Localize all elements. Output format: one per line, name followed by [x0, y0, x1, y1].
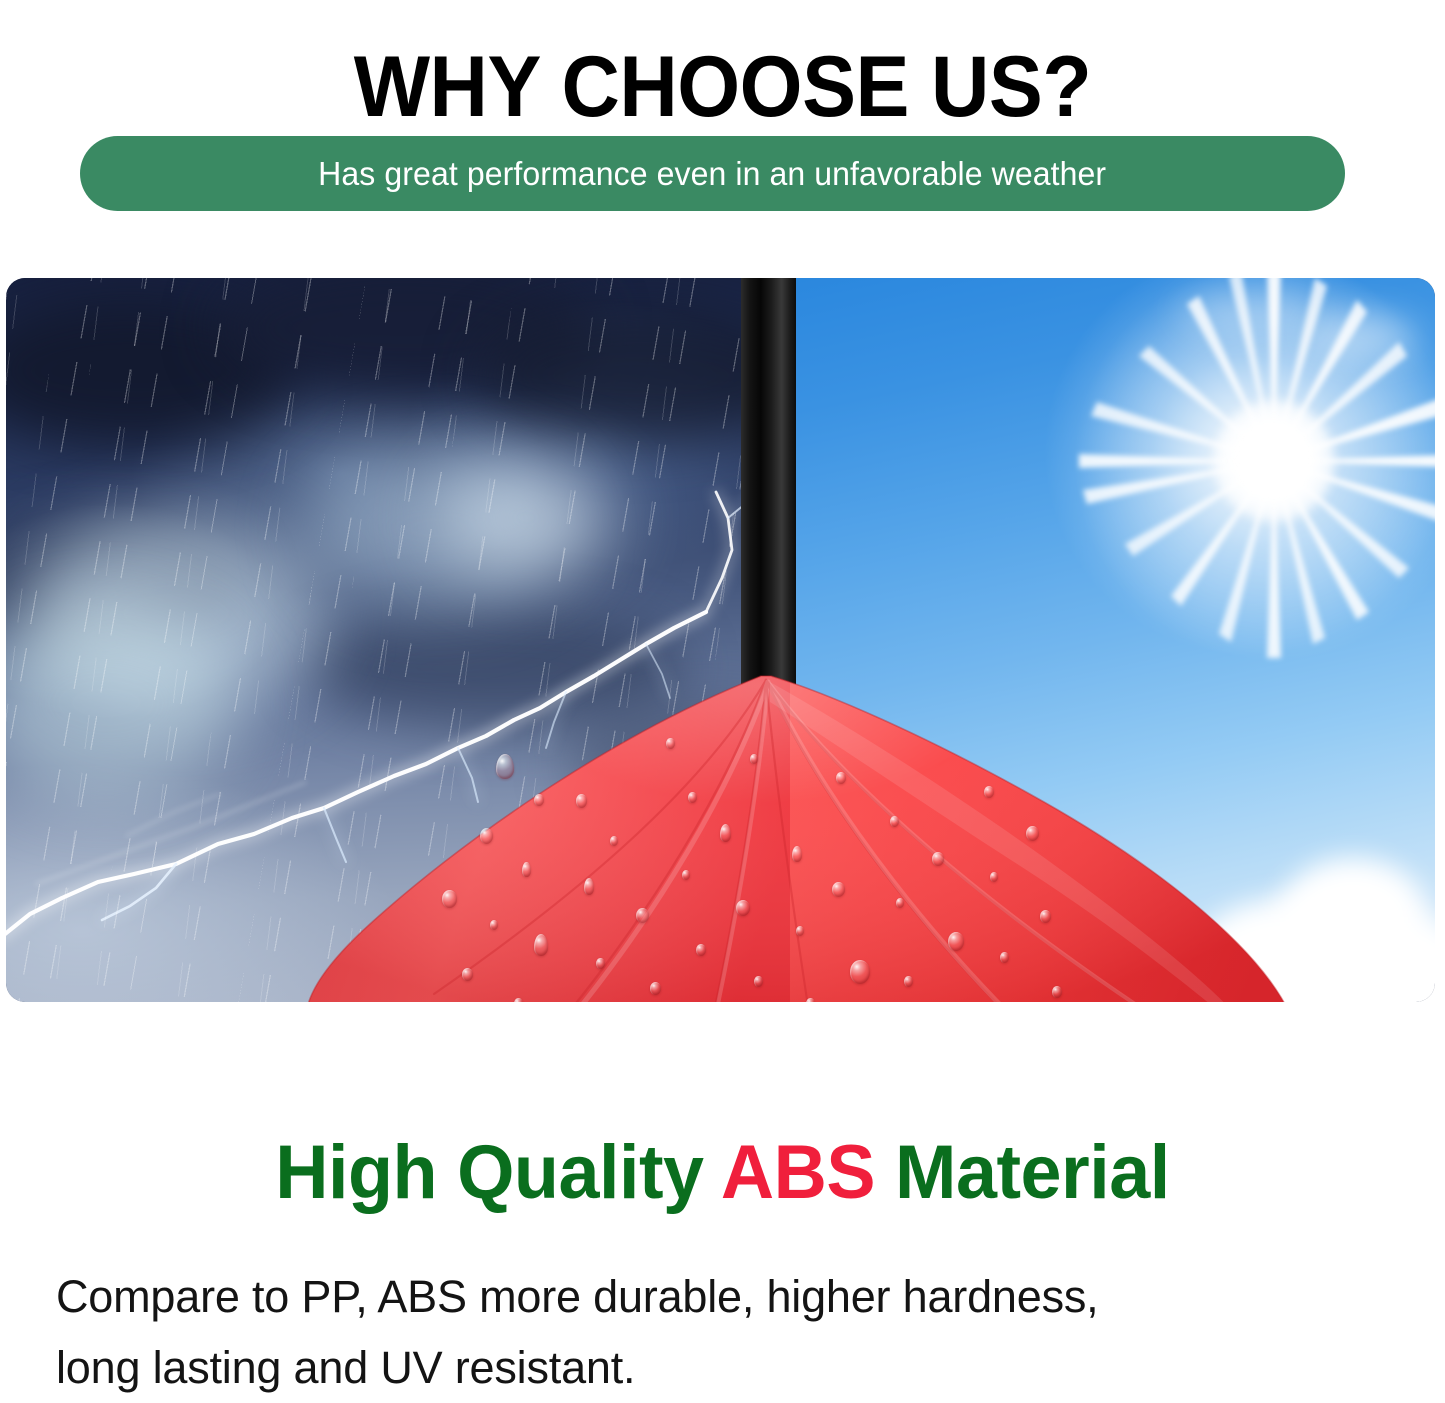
- cirrus-cloud-icon: [1178, 294, 1318, 332]
- page-title: WHY CHOOSE US?: [43, 44, 1401, 130]
- storm-cloud-icon: [6, 518, 246, 648]
- umbrella-pole: [741, 278, 796, 1002]
- cirrus-cloud-icon: [936, 838, 1076, 884]
- lightning-glow: [306, 448, 566, 608]
- material-heading-prefix: High Quality: [275, 1130, 721, 1215]
- hero-image-panel: [6, 278, 1435, 1002]
- body-copy-line-2: long lasting and UV resistant.: [56, 1332, 1401, 1403]
- lightning-glow: [436, 458, 616, 578]
- stormy-sky-scene: [6, 278, 768, 1002]
- material-heading-accent: ABS: [721, 1130, 875, 1215]
- material-heading-suffix: Material: [875, 1130, 1170, 1215]
- cirrus-cloud-icon: [1308, 314, 1418, 358]
- subtitle-banner: Has great performance even in an unfavor…: [80, 136, 1345, 211]
- subtitle-banner-label: Has great performance even in an unfavor…: [318, 155, 1106, 193]
- material-heading: High Quality ABS Material: [22, 1135, 1424, 1211]
- sun-icon: [1213, 400, 1335, 522]
- body-copy: Compare to PP, ABS more durable, higher …: [56, 1261, 1401, 1403]
- body-copy-line-1: Compare to PP, ABS more durable, higher …: [56, 1261, 1401, 1332]
